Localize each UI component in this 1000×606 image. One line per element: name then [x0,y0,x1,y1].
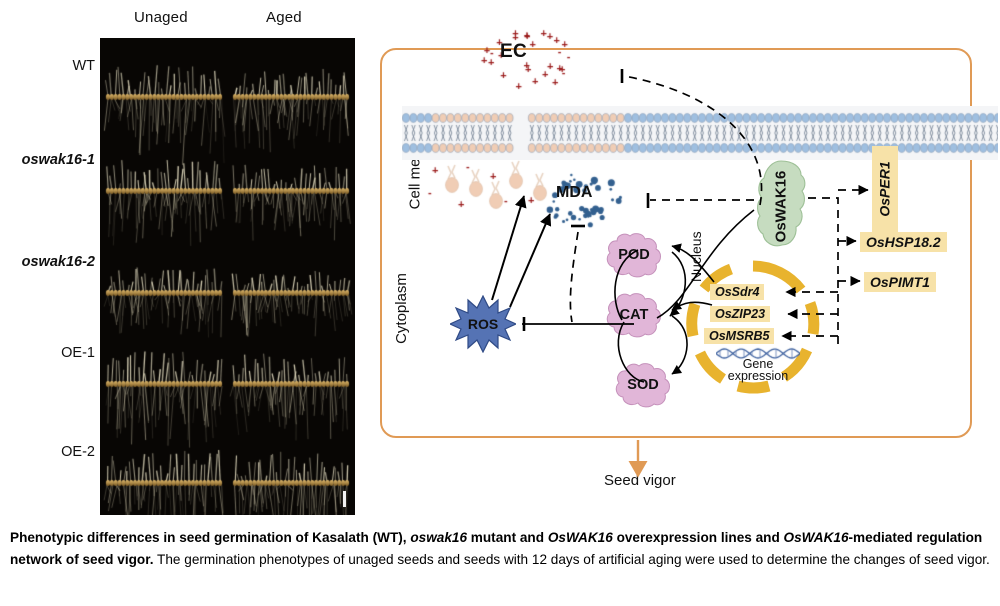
row-label-oe-2: OE-2 [10,444,95,460]
caption-i2: OsWAK16 [548,530,613,545]
gene-ospimt1: OsPIMT1 [864,272,936,292]
figure-caption: Phenotypic differences in seed germinati… [10,527,992,571]
column-header-aged: Aged [266,9,302,26]
caption-b1: Phenotypic differences in seed germinati… [10,530,410,545]
scale-bar [343,491,346,507]
node-label-ec: EC [500,41,527,63]
enzyme-label-cat: CAT [603,292,665,338]
caption-i3: OsWAK16 [784,530,849,545]
row-label-wt: WT [10,58,95,74]
enzyme-label-pod: POD [603,232,665,278]
caption-b3: overexpression lines and [613,530,784,545]
caption-normal: The germination phenotypes of unaged see… [154,552,990,567]
label-cytoplasm: Cytoplasm [393,273,410,344]
node-oswak16-receptor: OsWAK16 [755,160,807,252]
node-enzyme-sod: SOD [612,362,674,408]
germination-photo-panel: Unaged Aged WT oswak16-1 oswak16-2 OE-1 … [0,0,372,520]
gene-osmsrb5: OsMSRB5 [704,328,774,344]
regulation-network-diagram: Cell membrane Cytoplasm EC MDA ROS [372,0,1000,520]
node-enzyme-cat: CAT [603,292,665,338]
germination-plate-image [100,38,355,515]
lipid-bilayer [402,106,998,160]
node-label-ros: ROS [450,295,516,353]
caption-b2: mutant and [467,530,548,545]
node-label-oswak16: OsWAK16 [773,170,790,242]
caption-i1: oswak16 [410,530,467,545]
row-label-oswak16-1: oswak16-1 [0,152,95,168]
row-label-oe-1: OE-1 [10,345,95,361]
label-nucleus: Nucleus [688,231,704,282]
gene-ossdr4: OsSdr4 [710,284,764,300]
column-header-unaged: Unaged [134,9,188,26]
label-seed-vigor: Seed vigor [604,472,676,489]
electrolyte-leakage-cluster [467,28,587,90]
node-enzyme-pod: POD [603,232,665,278]
gene-osper1-label: OsPER1 [877,161,893,216]
enzyme-label-sod: SOD [612,362,674,408]
figure: Unaged Aged WT oswak16-1 oswak16-2 OE-1 … [0,0,1000,520]
gene-oshsp18-2: OsHSP18.2 [860,232,947,252]
row-label-oswak16-2: oswak16-2 [0,254,95,270]
label-gene-expression: Gene expression [712,358,804,382]
node-ros: ROS [450,295,516,353]
gene-osper1: OsPER1 [872,146,898,232]
gene-oszip23: OsZIP23 [710,306,770,322]
phospholipid-debris [424,160,624,230]
